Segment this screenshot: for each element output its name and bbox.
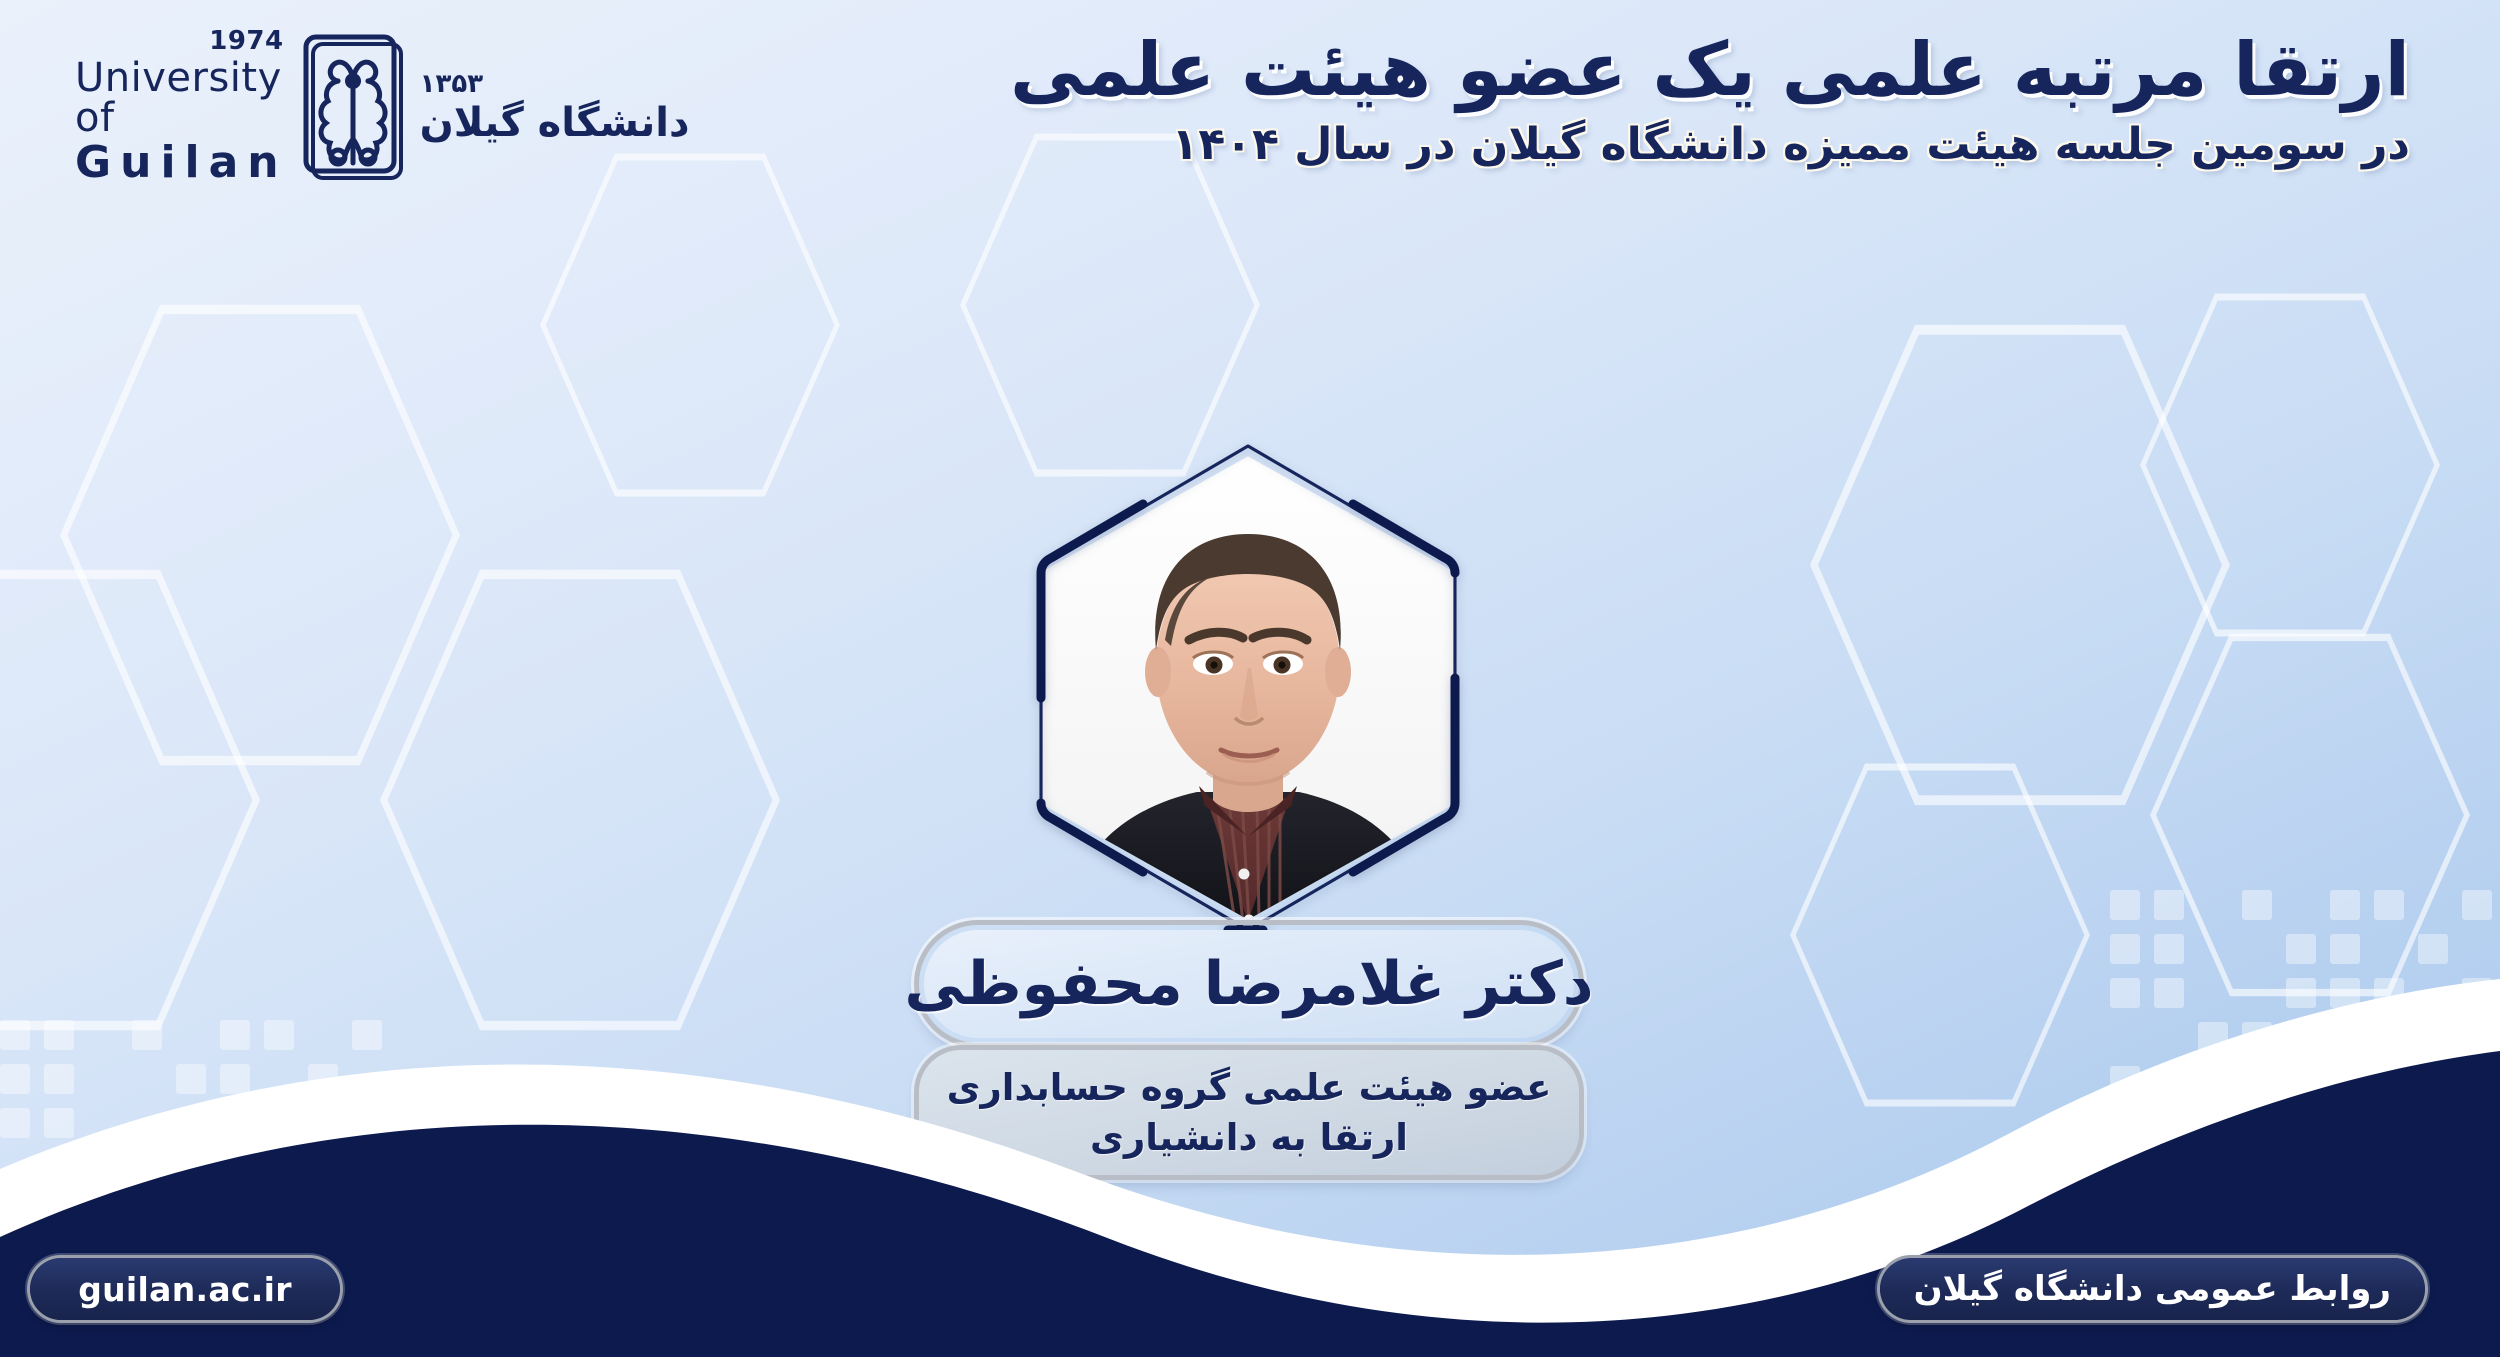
public-relations-label: روابط عمومی دانشگاه گیلان: [1914, 1269, 2391, 1309]
hexagon-outline-icon: [540, 150, 840, 500]
portrait-hexagon-frame: [1023, 438, 1473, 938]
university-logo: 1974 University of Guilan: [75, 28, 535, 188]
grid-square-decoration: [2330, 890, 2360, 920]
grid-square-decoration: [2242, 890, 2272, 920]
logo-english-block: 1974 University of Guilan: [75, 28, 288, 189]
grid-square-decoration: [2462, 890, 2492, 920]
guilan-emblem-icon: [300, 31, 408, 185]
page-title: ارتقا مرتبه علمی یک عضو هیئت علمی: [1090, 28, 2410, 113]
grid-square-decoration: [2374, 890, 2404, 920]
grid-square-decoration: [2154, 890, 2184, 920]
hexagon-outline-icon: [1810, 320, 2230, 810]
public-relations-badge: روابط عمومی دانشگاه گیلان: [1880, 1258, 2425, 1320]
hexagon-outline-icon: [960, 130, 1260, 480]
website-url: guilan.ac.ir: [78, 1270, 292, 1309]
portrait-hexagon-outline-icon: [1023, 438, 1473, 938]
logo-year-fa: ۱۳۵۳: [420, 71, 483, 97]
logo-persian-block: ۱۳۵۳ دانشگاه گیلان: [420, 71, 690, 145]
hexagon-outline-icon: [60, 300, 460, 770]
logo-year-en: 1974: [209, 28, 287, 54]
logo-name-en-line1: University of: [75, 58, 288, 138]
grid-square-decoration: [2110, 890, 2140, 920]
website-badge[interactable]: guilan.ac.ir: [30, 1258, 340, 1320]
poster-canvas: 1974 University of Guilan: [0, 0, 2500, 1357]
logo-name-en-line2: Guilan: [75, 138, 288, 189]
hexagon-outline-icon: [2140, 290, 2440, 640]
page-subtitle: در سومین جلسه هیئت ممیزه دانشگاه گیلان د…: [1090, 119, 2410, 172]
header-titles: ارتقا مرتبه علمی یک عضو هیئت علمی در سوم…: [1090, 28, 2410, 172]
logo-name-fa: دانشگاه گیلان: [420, 101, 690, 145]
